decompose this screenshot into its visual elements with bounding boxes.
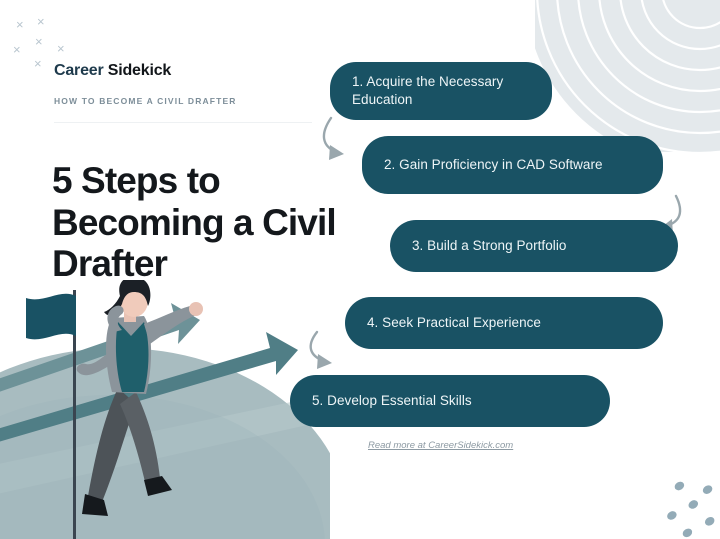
kicker-text: HOW TO BECOME A CIVIL DRAFTER (54, 96, 237, 106)
step-label-3: 3. Build a Strong Portfolio (412, 237, 566, 255)
header-divider (54, 122, 312, 123)
step-box-2[interactable]: 2. Gain Proficiency in CAD Software (362, 136, 663, 194)
step-label-5: 5. Develop Essential Skills (312, 392, 472, 410)
step-label-1: 1. Acquire the Necessary Education (352, 73, 530, 109)
arrow-step2-step3 (666, 196, 680, 226)
page-title: 5 Steps to Becoming a Civil Drafter (52, 160, 352, 285)
arrowhead-step1-step2 (329, 145, 344, 160)
arrowhead-step4-step5 (317, 354, 332, 369)
step-box-4[interactable]: 4. Seek Practical Experience (345, 297, 663, 349)
step-box-5[interactable]: 5. Develop Essential Skills (290, 375, 610, 427)
brand-logo-text: Career Sidekick (54, 62, 171, 80)
step-label-4: 4. Seek Practical Experience (367, 314, 541, 332)
infographic-canvas: × × × × × × (0, 0, 720, 539)
step-box-3[interactable]: 3. Build a Strong Portfolio (390, 220, 678, 272)
brand-name-secondary: Sidekick (108, 62, 171, 79)
step-box-1[interactable]: 1. Acquire the Necessary Education (330, 62, 552, 120)
read-more-link[interactable]: Read more at CareerSidekick.com (368, 440, 513, 451)
brand-name-primary: Career (54, 62, 104, 79)
brand-logo: Career Sidekick (54, 62, 171, 80)
step-label-2: 2. Gain Proficiency in CAD Software (384, 156, 603, 174)
